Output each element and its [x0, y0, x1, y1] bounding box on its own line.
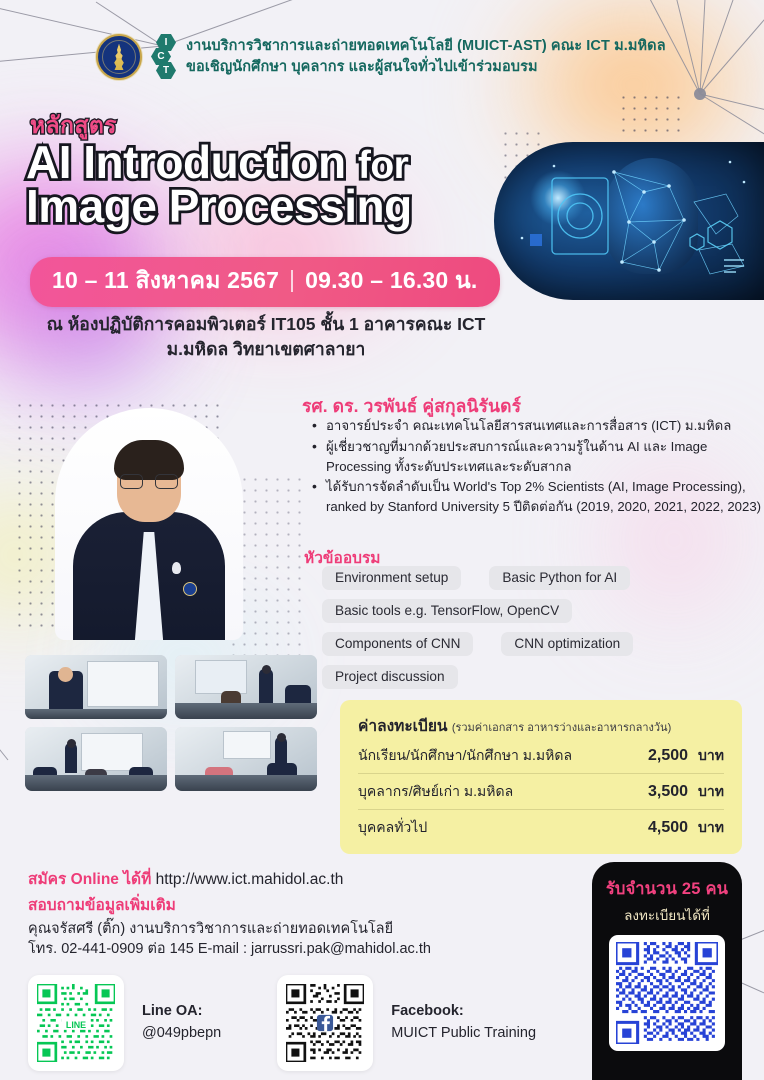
topic-row: Components of CNN CNN optimization — [322, 632, 762, 656]
seal-ring — [102, 40, 136, 74]
badge-divider — [291, 270, 293, 292]
photo-row — [25, 727, 317, 791]
fee-label: นักเรียน/นักศึกษา/นักศึกษา ม.มหิดล — [358, 745, 572, 767]
table-row: บุคคลทั่วไป 4,500 บาท — [358, 810, 724, 840]
fee-amount: 3,500 — [636, 783, 688, 801]
line-oa-value: @049pbepn — [142, 1025, 221, 1041]
list-item: อาจารย์ประจำ คณะเทคโนโลยีสารสนเทศและการส… — [312, 416, 764, 436]
more-info-label: สอบถามข้อมูลเพิ่มเติม — [28, 892, 568, 917]
register-here-label: ลงทะเบียนได้ที่ — [604, 904, 730, 926]
contact-person: คุณจรัสศรี (ติ๊ก) งานบริการวิชาการและถ่า… — [28, 919, 568, 939]
topic-chip: Basic tools e.g. TensorFlow, OpenCV — [322, 599, 572, 623]
title-line-2: Image Processing — [26, 184, 526, 228]
event-time: 09.30 – 16.30 น. — [305, 263, 477, 299]
apply-online-label: สมัคร Online ได้ที่ — [28, 871, 151, 888]
training-photo-grid — [25, 655, 317, 799]
seats-available: รับจำนวน 25 คน — [604, 876, 730, 902]
line-qr-code[interactable]: LINE — [37, 984, 115, 1062]
fee-title-text: ค่าลงทะเบียน — [358, 718, 448, 735]
facebook-qr-card[interactable] — [277, 975, 373, 1071]
fee-title: ค่าลงทะเบียน (รวมค่าเอกสาร อาหารว่างและอ… — [358, 713, 724, 738]
date-time-badge: 10 – 11 สิงหาคม 2567 09.30 – 16.30 น. — [30, 257, 500, 307]
fee-note: (รวมค่าเอกสาร อาหารว่างและอาหารกลางวัน) — [452, 722, 671, 734]
venue-line-1: ณ ห้องปฏิบัติการคอมพิวเตอร์ IT105 ชั้น 1… — [28, 312, 504, 337]
fee-unit: บาท — [698, 781, 724, 803]
topic-row: Basic tools e.g. TensorFlow, OpenCV — [322, 599, 762, 623]
ict-logo-icon: I C T — [151, 34, 177, 80]
training-photo — [25, 655, 167, 719]
fee-amount: 2,500 — [636, 747, 688, 765]
topics-list: Environment setup Basic Python for AI Ba… — [322, 566, 762, 698]
list-item: ผู้เชี่ยวชาญที่มากด้วยประสบการณ์และความร… — [312, 437, 764, 477]
hero-network-graphic — [494, 142, 764, 300]
apply-online-url[interactable]: http://www.ict.mahidol.ac.th — [156, 871, 344, 888]
topic-chip: Basic Python for AI — [489, 566, 630, 590]
line-oa-title: Line OA: — [142, 1001, 221, 1023]
org-header-text: งานบริการวิชาการและถ่ายทอดเทคโนโลยี (MUI… — [186, 36, 666, 78]
org-line-2: ขอเชิญนักศึกษา บุคลากร และผู้สนใจทั่วไปเ… — [186, 57, 666, 78]
list-item: ได้รับการจัดลำดับเป็น World's Top 2% Sci… — [312, 477, 764, 517]
facebook-title: Facebook: — [391, 1001, 536, 1023]
training-photo — [25, 727, 167, 791]
fee-unit: บาท — [698, 745, 724, 767]
speaker-photo — [55, 408, 243, 640]
social-qr-row: LINE Line OA: @049pbepn — [28, 975, 536, 1071]
speaker-lapel-pin — [172, 562, 181, 574]
contact-block: สมัคร Online ได้ที่ http://www.ict.mahid… — [28, 866, 568, 959]
org-header: I C T งานบริการวิชาการและถ่ายทอดเทคโนโลย… — [96, 34, 666, 80]
topic-row: Environment setup Basic Python for AI — [322, 566, 762, 590]
training-photo — [175, 655, 317, 719]
photo-row — [25, 655, 317, 719]
ai-hero-image — [494, 142, 764, 300]
dot-grid-top-right — [618, 92, 680, 132]
page-title: AI Introduction for Image Processing — [26, 140, 526, 229]
fee-label: บุคคลทั่วไป — [358, 817, 427, 839]
topic-chip: Project discussion — [322, 665, 458, 689]
speaker-credentials: อาจารย์ประจำ คณะเทคโนโลยีสารสนเทศและการส… — [312, 416, 764, 518]
venue-line-2: ม.มหิดล วิทยาเขตศาลายา — [28, 337, 504, 362]
facebook-label: Facebook: MUICT Public Training — [391, 1001, 536, 1045]
fee-card: ค่าลงทะเบียน (รวมค่าเอกสาร อาหารว่างและอ… — [340, 700, 742, 854]
event-date: 10 – 11 สิงหาคม 2567 — [52, 263, 279, 299]
topic-row: Project discussion — [322, 665, 762, 689]
topic-chip: Components of CNN — [322, 632, 473, 656]
contact-phone-email: โทร. 02-441-0909 ต่อ 145 E-mail : jarrus… — [28, 939, 568, 959]
org-line-1: งานบริการวิชาการและถ่ายทอดเทคโนโลยี (MUI… — [186, 36, 666, 57]
fee-unit: บาท — [698, 817, 724, 839]
facebook-qr-code[interactable] — [286, 984, 364, 1062]
apply-online-line: สมัคร Online ได้ที่ http://www.ict.mahid… — [28, 866, 568, 891]
topic-chip: CNN optimization — [501, 632, 633, 656]
training-photo — [175, 727, 317, 791]
facebook-value: MUICT Public Training — [391, 1025, 536, 1041]
line-oa-label: Line OA: @049pbepn — [142, 1001, 221, 1045]
svg-text:LINE: LINE — [66, 1020, 86, 1030]
fee-label: บุคลากร/ศิษย์เก่า ม.มหิดล — [358, 781, 513, 803]
fee-amount: 4,500 — [636, 819, 688, 837]
speaker-badge-pin — [183, 582, 197, 596]
register-qr-card[interactable] — [609, 935, 725, 1051]
table-row: บุคลากร/ศิษย์เก่า ม.มหิดล 3,500 บาท — [358, 774, 724, 810]
mahidol-seal-icon — [96, 34, 142, 80]
line-qr-card[interactable]: LINE — [28, 975, 124, 1071]
facebook-icon — [317, 1015, 333, 1031]
speaker-glasses-icon — [120, 474, 178, 489]
registration-card: รับจำนวน 25 คน ลงทะเบียนได้ที่ — [592, 862, 742, 1080]
venue-text: ณ ห้องปฏิบัติการคอมพิวเตอร์ IT105 ชั้น 1… — [28, 312, 504, 362]
table-row: นักเรียน/นักศึกษา/นักศึกษา ม.มหิดล 2,500… — [358, 738, 724, 774]
topic-chip: Environment setup — [322, 566, 461, 590]
registration-qr-code[interactable] — [616, 942, 718, 1044]
poster-root: I C T งานบริการวิชาการและถ่ายทอดเทคโนโลย… — [0, 0, 764, 1080]
